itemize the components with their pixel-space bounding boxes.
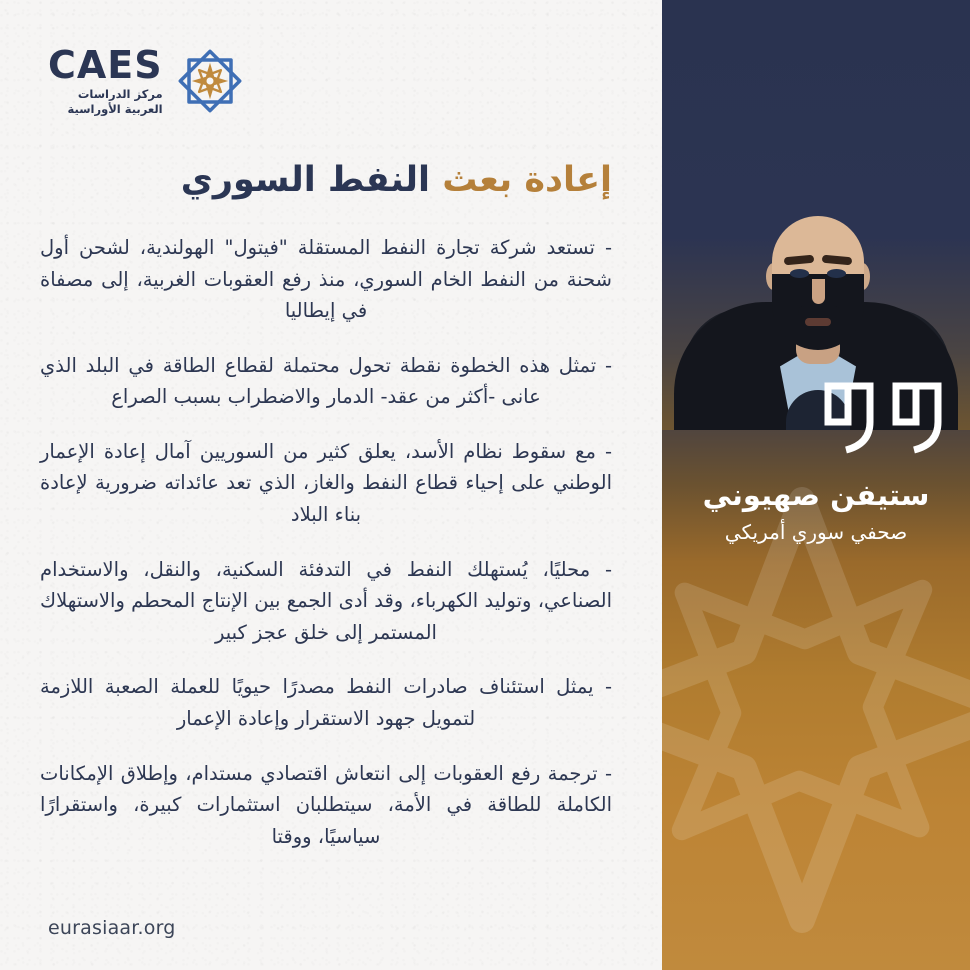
quotation-mark-left-icon: [824, 382, 874, 454]
paragraph: - يمثل استئناف صادرات النفط مصدرًا حيويً…: [40, 671, 612, 734]
brand-wordmark: CAES مركز الدراسات العربية الأوراسية: [48, 46, 163, 115]
mouth: [805, 318, 831, 326]
paragraph: - محليًا، يُستهلك النفط في التدفئة السكن…: [40, 554, 612, 649]
brand-subtitle-line2: العربية الأوراسية: [68, 102, 163, 116]
social-card: CAES مركز الدراسات العربية الأوراسية: [0, 0, 970, 970]
page-title: إعادة بعث النفط السوري: [52, 157, 612, 204]
portrait-figure: [662, 100, 970, 430]
moustache: [798, 306, 840, 318]
brand-subtitle-line1: مركز الدراسات: [68, 87, 163, 101]
eye-left: [790, 269, 809, 278]
speaker-panel: ستيفن صهيوني صحفي سوري أمريكي: [662, 0, 970, 970]
title-navy-part: النفط السوري: [181, 160, 430, 200]
brand-logo[interactable]: CAES مركز الدراسات العربية الأوراسية: [48, 46, 245, 116]
website-url[interactable]: eurasiaar.org: [48, 917, 176, 939]
brand-acronym: CAES: [48, 46, 163, 84]
eight-pointed-star-icon: [175, 46, 245, 116]
speaker-name: ستيفن صهيوني: [662, 478, 970, 513]
quotation-mark-icon: [824, 382, 942, 454]
body-text: - تستعد شركة تجارة النفط المستقلة "فيتول…: [40, 232, 612, 852]
quotation-mark-right-icon: [892, 382, 942, 454]
paragraph: - تستعد شركة تجارة النفط المستقلة "فيتول…: [40, 232, 612, 327]
star-watermark-icon: [662, 470, 970, 970]
content-column: CAES مركز الدراسات العربية الأوراسية: [0, 0, 662, 970]
portrait-photo: [662, 0, 970, 430]
paragraph: - مع سقوط نظام الأسد، يعلق كثير من السور…: [40, 436, 612, 531]
paragraph: - ترجمة رفع العقوبات إلى انتعاش اقتصادي …: [40, 758, 612, 853]
speaker-info: ستيفن صهيوني صحفي سوري أمريكي: [662, 478, 970, 544]
brand-subtitle: مركز الدراسات العربية الأوراسية: [68, 87, 163, 115]
eye-right: [827, 269, 846, 278]
title-gold-part: إعادة بعث: [442, 160, 612, 200]
speaker-role: صحفي سوري أمريكي: [662, 520, 970, 544]
paragraph: - تمثل هذه الخطوة نقطة تحول محتملة لقطاع…: [40, 350, 612, 413]
nose: [812, 279, 825, 304]
